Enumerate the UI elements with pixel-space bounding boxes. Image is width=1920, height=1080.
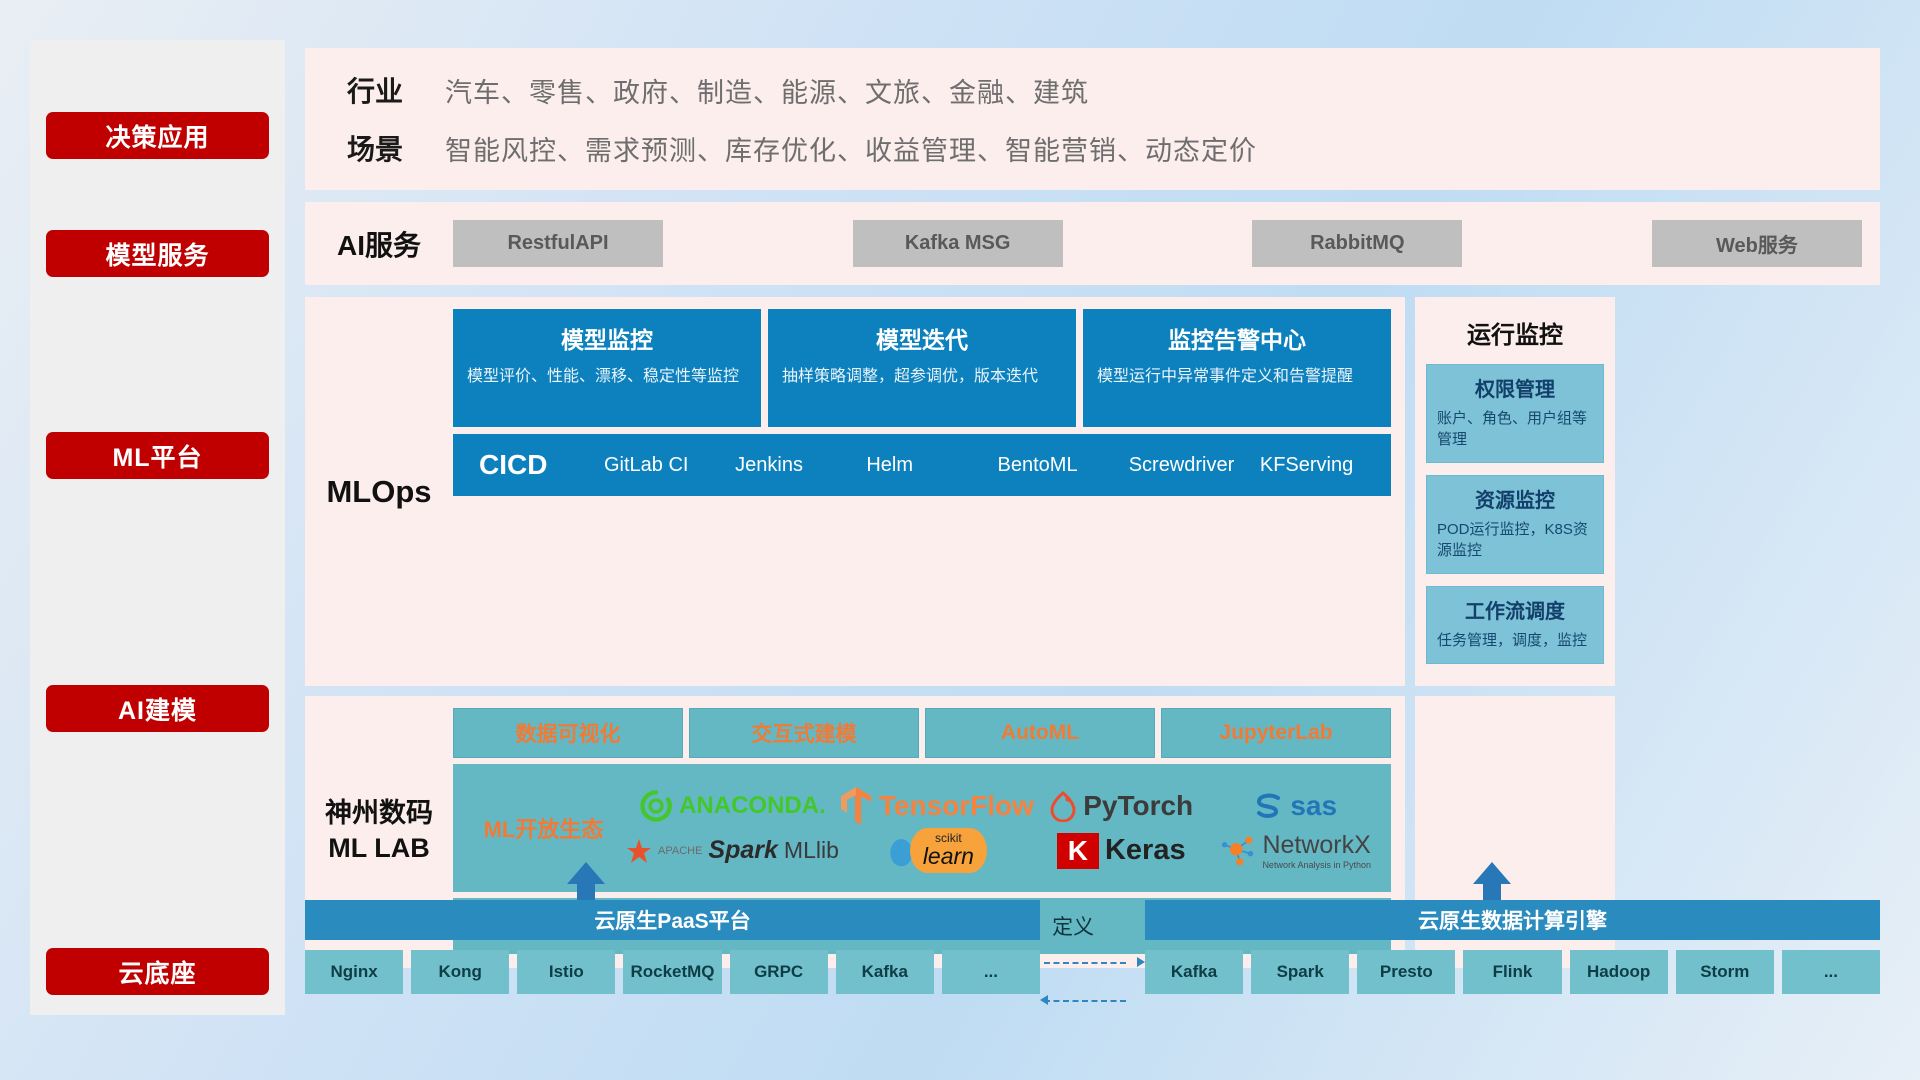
industry-line: 行业 汽车、零售、政府、制造、能源、文旅、金融、建筑 (305, 70, 1880, 110)
tab-automl[interactable]: AutoML (925, 708, 1155, 758)
mlops-body: 模型监控 模型评价、性能、漂移、稳定性等监控 模型迭代 抽样策略调整，超参调优，… (453, 309, 1391, 674)
engine-chip-spark[interactable]: Spark (1251, 950, 1349, 994)
card-title: 资源监控 (1437, 484, 1593, 513)
ai-service-label: AI服务 (305, 224, 453, 264)
sas-label: sas (1290, 790, 1337, 822)
link-arrows (1040, 900, 1145, 994)
spark-star-icon (626, 838, 652, 864)
engine-chip-presto[interactable]: Presto (1357, 950, 1455, 994)
card-desc: 模型评价、性能、漂移、稳定性等监控 (467, 365, 747, 388)
monitoring-card-permission[interactable]: 权限管理 账户、角色、用户组等管理 (1426, 364, 1604, 463)
card-desc: POD运行监控，K8S资源监控 (1437, 519, 1593, 561)
paas-chip-rocketmq[interactable]: RocketMQ (623, 950, 721, 994)
cicd-item-kfserving[interactable]: KFServing (1260, 455, 1391, 476)
industry-values: 汽车、零售、政府、制造、能源、文旅、金融、建筑 (445, 71, 1089, 110)
ai-service-chip-kafka-msg[interactable]: Kafka MSG (853, 220, 1063, 267)
tensorflow-label: TensorFlow (879, 790, 1034, 822)
bottom-section: 云原生PaaS平台 Nginx Kong Istio RocketMQ GRPC… (305, 862, 1880, 994)
tensorflow-logo: TensorFlow (839, 787, 1034, 825)
networkx-label: NetworkX (1262, 831, 1371, 860)
scenario-values: 智能风控、需求预测、库存优化、收益管理、智能营销、动态定价 (445, 129, 1257, 168)
mlops-cards: 模型监控 模型评价、性能、漂移、稳定性等监控 模型迭代 抽样策略调整，超参调优，… (453, 309, 1391, 427)
engine-chip-hadoop[interactable]: Hadoop (1570, 950, 1668, 994)
main-column: 行业 汽车、零售、政府、制造、能源、文旅、金融、建筑 场景 智能风控、需求预测、… (305, 48, 1880, 968)
paas-title: 云原生PaaS平台 (305, 900, 1040, 940)
paas-chip-kafka[interactable]: Kafka (836, 950, 934, 994)
tab-interactive-modeling[interactable]: 交互式建模 (689, 708, 919, 758)
rail-label: 云底座 (118, 954, 196, 990)
engine-title: 云原生数据计算引擎 (1145, 900, 1880, 940)
mlops-section: MLOps 模型监控 模型评价、性能、漂移、稳定性等监控 模型迭代 抽样策略调整… (305, 297, 1405, 686)
ai-service-chip-restfulapi[interactable]: RestfulAPI (453, 220, 663, 267)
card-title: 模型监控 (467, 321, 747, 355)
tensorflow-icon (839, 787, 873, 825)
rail-item-cloud-foundation[interactable]: 云底座 (46, 948, 269, 995)
ml-lab-label-line1: 神州数码 (325, 796, 433, 831)
rail-item-ml-platform[interactable]: ML平台 (46, 432, 269, 479)
ai-service-chip-rabbitmq[interactable]: RabbitMQ (1252, 220, 1462, 267)
cicd-title: CICD (479, 449, 604, 481)
anaconda-logo: ANACONDA. (626, 789, 839, 823)
paas-chip-istio[interactable]: Istio (517, 950, 615, 994)
anaconda-label: ANACONDA. (679, 792, 826, 820)
diagram-canvas: 决策应用 模型服务 ML平台 AI建模 云底座 行业 汽车、零售、政府、制造、能… (0, 0, 1920, 1080)
ai-service-items: RestfulAPI Kafka MSG RabbitMQ Web服务 (453, 220, 1880, 267)
rail-item-decision-app[interactable]: 决策应用 (46, 112, 269, 159)
pytorch-logo: PyTorch (1034, 790, 1209, 822)
ml-ecosystem-label: ML开放生态 (461, 812, 626, 844)
spark-apache-label: APACHE (658, 845, 702, 857)
scenario-line: 场景 智能风控、需求预测、库存优化、收益管理、智能营销、动态定价 (305, 128, 1880, 168)
engine-chip-more[interactable]: ... (1782, 950, 1880, 994)
paas-chip-kong[interactable]: Kong (411, 950, 509, 994)
sas-logo: sas (1208, 790, 1383, 822)
mlops-card-model-iteration[interactable]: 模型迭代 抽样策略调整，超参调优，版本迭代 (768, 309, 1076, 427)
mlops-row: MLOps 模型监控 模型评价、性能、漂移、稳定性等监控 模型迭代 抽样策略调整… (305, 297, 1880, 686)
engine-chips: Kafka Spark Presto Flink Hadoop Storm ..… (1145, 950, 1880, 994)
paas-block: 云原生PaaS平台 Nginx Kong Istio RocketMQ GRPC… (305, 900, 1040, 994)
ai-service-band: AI服务 RestfulAPI Kafka MSG RabbitMQ Web服务 (305, 202, 1880, 285)
paas-chips: Nginx Kong Istio RocketMQ GRPC Kafka ... (305, 950, 1040, 994)
monitoring-card-workflow[interactable]: 工作流调度 任务管理，调度，监控 (1426, 586, 1604, 664)
ai-service-chip-web-service[interactable]: Web服务 (1652, 220, 1862, 267)
arrow-up-paas (567, 862, 605, 884)
cicd-items: GitLab CI Jenkins Helm BentoML Screwdriv… (604, 455, 1391, 476)
rail-label: AI建模 (118, 691, 197, 727)
paas-chip-grpc[interactable]: GRPC (730, 950, 828, 994)
card-desc: 任务管理，调度，监控 (1437, 630, 1593, 651)
card-title: 工作流调度 (1437, 595, 1593, 624)
dash-line-left (1044, 1000, 1126, 1002)
rail-item-ai-modeling[interactable]: AI建模 (46, 685, 269, 732)
up-arrows (305, 862, 1880, 900)
ml-lab-tabs: 数据可视化 交互式建模 AutoML JupyterLab (453, 708, 1391, 758)
left-rail: 决策应用 模型服务 ML平台 AI建模 云底座 (30, 40, 285, 1015)
monitoring-title: 运行监控 (1467, 315, 1563, 350)
card-title: 模型迭代 (782, 321, 1062, 355)
mlops-card-model-monitoring[interactable]: 模型监控 模型评价、性能、漂移、稳定性等监控 (453, 309, 761, 427)
rail-item-model-service[interactable]: 模型服务 (46, 230, 269, 277)
monitoring-card-resource[interactable]: 资源监控 POD运行监控，K8S资源监控 (1426, 475, 1604, 574)
pytorch-label: PyTorch (1083, 790, 1193, 822)
card-title: 权限管理 (1437, 373, 1593, 402)
cicd-item-gitlab-ci[interactable]: GitLab CI (604, 455, 735, 476)
scenario-label: 场景 (305, 128, 445, 168)
tab-data-visualization[interactable]: 数据可视化 (453, 708, 683, 758)
industry-label: 行业 (305, 70, 445, 110)
arrow-up-engine (1473, 862, 1511, 884)
ml-lab-label-line2: ML LAB (325, 831, 433, 866)
monitoring-column: 运行监控 权限管理 账户、角色、用户组等管理 资源监控 POD运行监控，K8S资… (1415, 297, 1615, 686)
rail-label: 模型服务 (105, 236, 209, 272)
cicd-item-jenkins[interactable]: Jenkins (735, 455, 866, 476)
dash-line-right (1044, 962, 1126, 964)
ml-ecosystem-logos: ANACONDA. TensorFlow (626, 783, 1383, 873)
pytorch-icon (1049, 790, 1077, 822)
anaconda-icon (639, 789, 673, 823)
engine-chip-kafka[interactable]: Kafka (1145, 950, 1243, 994)
engine-chip-storm[interactable]: Storm (1676, 950, 1774, 994)
spark-label: Spark (708, 836, 777, 865)
card-title: 监控告警中心 (1097, 321, 1377, 355)
cicd-item-helm[interactable]: Helm (866, 455, 997, 476)
engine-chip-flink[interactable]: Flink (1463, 950, 1561, 994)
spark-mllib-logo: APACHE Spark MLlib (626, 836, 839, 865)
sas-icon (1254, 792, 1284, 820)
engine-block: 云原生数据计算引擎 Kafka Spark Presto Flink Hadoo… (1145, 900, 1880, 994)
mllib-label: MLlib (784, 837, 839, 864)
cicd-item-bentoml[interactable]: BentoML (998, 455, 1129, 476)
industry-scenario-band: 行业 汽车、零售、政府、制造、能源、文旅、金融、建筑 场景 智能风控、需求预测、… (305, 48, 1880, 190)
rail-label: 决策应用 (105, 118, 209, 154)
paas-chip-more[interactable]: ... (942, 950, 1040, 994)
card-desc: 账户、角色、用户组等管理 (1437, 408, 1593, 450)
card-desc: 抽样策略调整，超参调优，版本迭代 (782, 365, 1062, 388)
mlops-label: MLOps (305, 309, 453, 674)
cicd-bar: CICD GitLab CI Jenkins Helm BentoML Scre… (453, 434, 1391, 496)
dash-arrow-right (1137, 957, 1145, 967)
card-desc: 模型运行中异常事件定义和告警提醒 (1097, 365, 1377, 388)
cicd-item-screwdriver[interactable]: Screwdriver (1129, 455, 1260, 476)
paas-chip-nginx[interactable]: Nginx (305, 950, 403, 994)
mlops-card-alert-center[interactable]: 监控告警中心 模型运行中异常事件定义和告警提醒 (1083, 309, 1391, 427)
dash-arrow-left (1040, 995, 1048, 1005)
rail-label: ML平台 (112, 438, 202, 474)
tab-jupyterlab[interactable]: JupyterLab (1161, 708, 1391, 758)
cloud-foundation-row: 云原生PaaS平台 Nginx Kong Istio RocketMQ GRPC… (305, 900, 1880, 994)
